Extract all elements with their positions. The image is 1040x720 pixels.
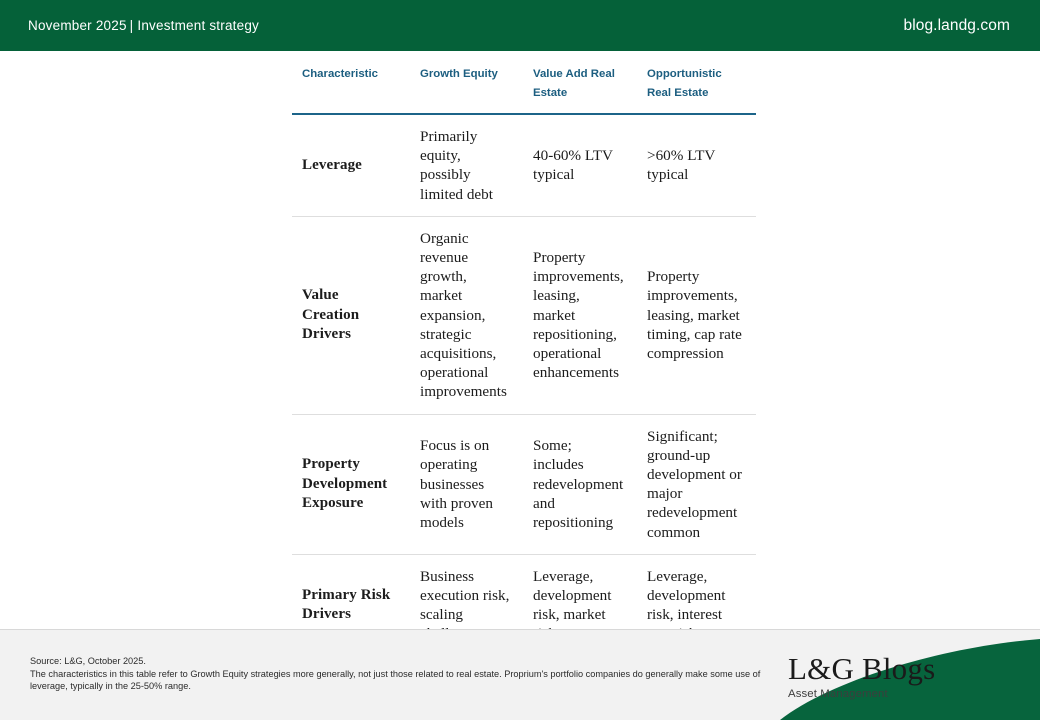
cell-text: Property improvements, leasing, market t…	[647, 267, 744, 363]
cell-leverage-value-add: 40-60% LTV typical	[523, 114, 637, 216]
cell-text: Primarily equity, possibly limited debt	[420, 127, 511, 204]
row-label-leverage: Leverage	[292, 114, 410, 216]
cell-leverage-opportunistic: >60% LTV typical	[637, 114, 756, 216]
lg-blogs-logo: L&G Blogs Asset Management	[788, 652, 998, 701]
table-header-row-group: Characteristic Growth Equity Value Add R…	[292, 61, 756, 114]
cell-text: Significant; ground-up development or ma…	[647, 427, 744, 542]
page-footer: Source: L&G, October 2025. The character…	[0, 629, 1040, 720]
comparison-table: Characteristic Growth Equity Value Add R…	[292, 61, 756, 657]
comparison-table-container: Characteristic Growth Equity Value Add R…	[292, 61, 756, 657]
cell-text: Focus is on operating businesses with pr…	[420, 436, 511, 532]
header-site-link[interactable]: blog.landg.com	[903, 17, 1010, 35]
cell-property-development-value-add: Some; includes redevelopment and reposit…	[523, 414, 637, 554]
cell-property-development-opportunistic: Significant; ground-up development or ma…	[637, 414, 756, 554]
footer-source-note: Source: L&G, October 2025. The character…	[30, 655, 770, 693]
column-header-opportunistic-real-estate: Opportunistic Real Estate	[637, 61, 756, 114]
row-label-value-creation-drivers: Value Creation Drivers	[292, 216, 410, 414]
cell-text: 40-60% LTV typical	[533, 146, 625, 184]
footer-disclaimer-line: The characteristics in this table refer …	[30, 669, 760, 692]
header-title-group: November 2025|Investment strategy	[28, 18, 259, 33]
cell-value-creation-opportunistic: Property improvements, leasing, market t…	[637, 216, 756, 414]
table-row: Value Creation Drivers Organic revenue g…	[292, 216, 756, 414]
table-row: Property Development Exposure Focus is o…	[292, 414, 756, 554]
row-label-text: Property Development Exposure	[302, 455, 398, 513]
table-body: Leverage Primarily equity, possibly limi…	[292, 114, 756, 656]
logo-subtitle: Asset Management	[788, 687, 998, 701]
row-label-text: Leverage	[302, 156, 398, 175]
row-label-property-development-exposure: Property Development Exposure	[292, 414, 410, 554]
page-header: November 2025|Investment strategy blog.l…	[0, 0, 1040, 51]
footer-source-line: Source: L&G, October 2025.	[30, 655, 770, 668]
table-header-row: Characteristic Growth Equity Value Add R…	[292, 61, 756, 114]
cell-value-creation-value-add: Property improvements, leasing, market r…	[523, 216, 637, 414]
cell-text: Some; includes redevelopment and reposit…	[533, 436, 625, 532]
header-date: November 2025	[28, 18, 127, 33]
column-header-growth-equity: Growth Equity	[410, 61, 523, 114]
cell-text: >60% LTV typical	[647, 146, 744, 184]
header-category: Investment strategy	[137, 18, 259, 33]
column-header-value-add-real-estate: Value Add Real Estate	[523, 61, 637, 114]
column-header-characteristic: Characteristic	[292, 61, 410, 114]
row-label-text: Value Creation Drivers	[302, 286, 398, 344]
logo-title: L&G Blogs	[788, 652, 998, 686]
header-separator: |	[130, 18, 134, 33]
cell-leverage-growth-equity: Primarily equity, possibly limited debt	[410, 114, 523, 216]
cell-text: Organic revenue growth, market expansion…	[420, 229, 511, 402]
table-row: Leverage Primarily equity, possibly limi…	[292, 114, 756, 216]
row-label-text: Primary Risk Drivers	[302, 586, 398, 624]
cell-property-development-growth-equity: Focus is on operating businesses with pr…	[410, 414, 523, 554]
slide-content-area: Characteristic Growth Equity Value Add R…	[0, 51, 1040, 629]
cell-text: Property improvements, leasing, market r…	[533, 248, 625, 382]
cell-value-creation-growth-equity: Organic revenue growth, market expansion…	[410, 216, 523, 414]
